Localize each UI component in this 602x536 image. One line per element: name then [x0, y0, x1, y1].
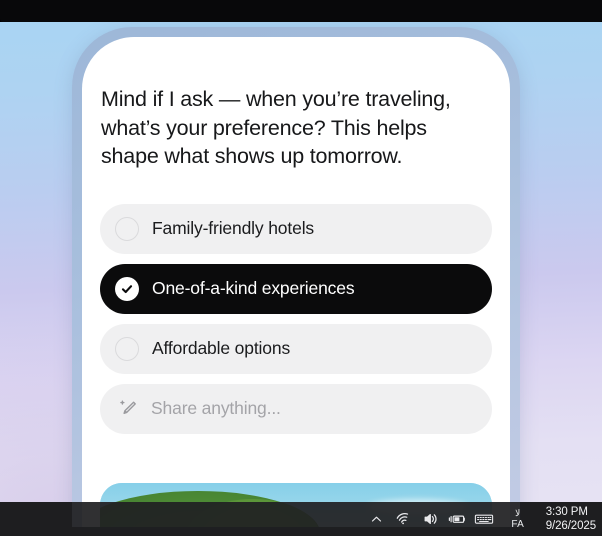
language-native: لا	[515, 508, 520, 519]
language-indicator[interactable]: لا FA	[503, 503, 533, 535]
radio-circle-icon	[115, 217, 139, 241]
card-content: Mind if I ask — when you’re traveling, w…	[82, 37, 510, 434]
check-circle-icon	[115, 277, 139, 301]
option-list: Family-friendly hotels One-of-a-kind exp…	[100, 204, 492, 374]
windows-taskbar: لا FA 3:30 PM 9/26/2025	[0, 502, 602, 536]
share-anything-input[interactable]: Share anything...	[100, 384, 492, 434]
wifi-icon[interactable]	[390, 504, 417, 534]
option-one-of-a-kind-experiences[interactable]: One-of-a-kind experiences	[100, 264, 492, 314]
option-label: Family-friendly hotels	[152, 218, 314, 239]
phone-screen: Mind if I ask — when you’re traveling, w…	[82, 37, 510, 527]
magic-pencil-icon	[117, 398, 139, 420]
share-placeholder: Share anything...	[151, 398, 281, 419]
keyboard-icon[interactable]	[471, 504, 498, 534]
clock[interactable]: 3:30 PM 9/26/2025	[546, 503, 598, 535]
clock-date: 9/26/2025	[546, 519, 596, 533]
volume-icon[interactable]	[417, 504, 444, 534]
system-tray: لا FA 3:30 PM 9/26/2025	[363, 503, 602, 535]
app-title-bar	[0, 0, 602, 22]
screen: Mind if I ask — when you’re traveling, w…	[0, 0, 602, 536]
battery-charging-icon[interactable]	[444, 504, 471, 534]
radio-circle-icon	[115, 337, 139, 361]
option-affordable-options[interactable]: Affordable options	[100, 324, 492, 374]
clock-time: 3:30 PM	[546, 505, 588, 519]
language-code: FA	[511, 519, 524, 531]
prompt-text: Mind if I ask — when you’re traveling, w…	[100, 85, 474, 171]
option-family-friendly-hotels[interactable]: Family-friendly hotels	[100, 204, 492, 254]
show-hidden-icons-chevron-icon[interactable]	[363, 504, 390, 534]
option-label: One-of-a-kind experiences	[152, 278, 354, 299]
option-label: Affordable options	[152, 338, 290, 359]
